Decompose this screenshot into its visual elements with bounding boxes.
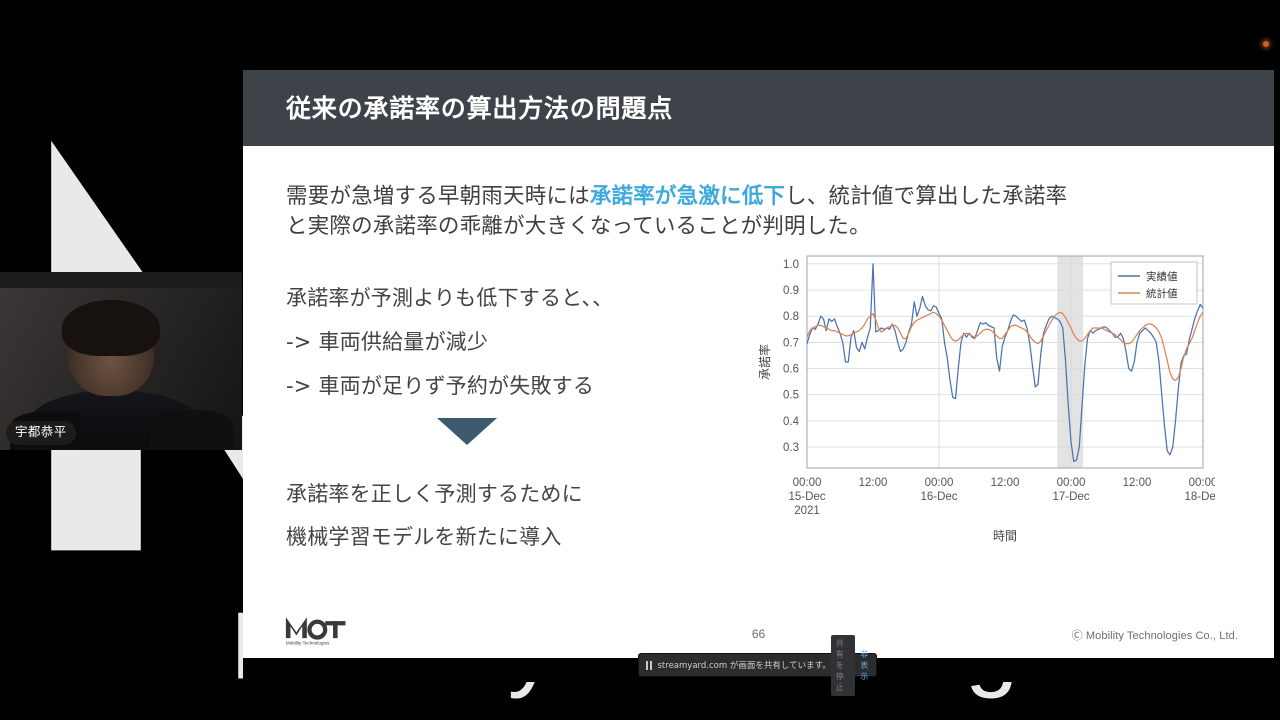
screen-share-bar[interactable]: streamyard.com が画面を共有しています。 共有を停止 非表示 [639, 654, 876, 676]
x-tick-date: 18-Dec [1184, 491, 1215, 503]
solution-line-2: 機械学習モデルを新たに導入 [286, 527, 583, 548]
chart-legend-label: 実績値 [1146, 270, 1178, 283]
lead-highlight: 承諾率が急激に低下 [590, 184, 785, 209]
copyright-notice: Ⓒ Mobility Technologies Co., Ltd. [1072, 627, 1238, 643]
consequence-line-1: 承諾率が予測よりも低下すると、、 [286, 288, 613, 309]
lead-part2: し、統計値で算出した承諾率 [785, 184, 1067, 209]
x-tick-date: 15-Dec [788, 491, 825, 503]
mot-footer-logo-label: Mobility Technologies [286, 641, 330, 646]
y-tick-label: 0.7 [783, 337, 799, 349]
screen-top-letterbox [243, 38, 1274, 70]
y-tick-label: 0.6 [783, 364, 799, 376]
x-tick-date: 16-Dec [920, 491, 957, 503]
chart-ylabel: 承諾率 [757, 344, 772, 380]
presenter-shoulder-right [150, 410, 234, 450]
pause-icon [646, 661, 652, 670]
chart-legend-label: 統計値 [1146, 287, 1178, 300]
chart-xlabel: 時間 [993, 529, 1017, 543]
lead-line2: と実際の承諾率の乖離が大きくなっていることが判明した。 [286, 214, 871, 239]
x-tick-time: 00:00 [1189, 477, 1215, 489]
screen-root: Mobility Technologies 宇都恭平 従来の承諾率の算出方法の問… [0, 0, 1280, 720]
participant-name-tag: 宇都恭平 [6, 421, 76, 445]
slide-header: 従来の承諾率の算出方法の問題点 [243, 70, 1274, 146]
chart-svg: 0.30.40.50.60.70.80.91.000:0015-Dec20211… [755, 246, 1215, 546]
x-tick-time: 00:00 [1057, 477, 1086, 489]
slide-body: 需要が急増する早朝雨天時には承諾率が急激に低下し、統計値で算出した承諾率 と実際… [243, 146, 1274, 658]
presenter-hair [62, 300, 160, 356]
webcam-top-strip [0, 272, 242, 288]
x-tick-time: 12:00 [859, 477, 888, 489]
y-tick-label: 1.0 [783, 259, 799, 271]
consequence-line-3: -> 車両が足りず予約が失敗する [286, 376, 613, 397]
share-message: streamyard.com が画面を共有しています。 [658, 659, 831, 671]
stop-sharing-button[interactable]: 共有を停止 [831, 635, 856, 696]
chart-series-統計値 [807, 312, 1203, 380]
shared-screen-area: 従来の承諾率の算出方法の問題点 需要が急増する早朝雨天時には承諾率が急激に低下し… [243, 38, 1274, 682]
y-tick-label: 0.8 [783, 311, 799, 323]
x-tick-date: 17-Dec [1052, 491, 1089, 503]
down-arrow-icon [437, 418, 497, 445]
lead-part1: 需要が急増する早朝雨天時には [286, 184, 590, 209]
consequences-block: 承諾率が予測よりも低下すると、、 -> 車両供給量が減少 -> 車両が足りず予約… [286, 288, 613, 420]
y-tick-label: 0.4 [783, 416, 800, 428]
slide-footer: Mobility Technologies 66 Ⓒ Mobility Tech… [243, 600, 1274, 658]
y-tick-label: 0.5 [783, 390, 799, 402]
hide-bar-button[interactable]: 非表示 [855, 646, 876, 685]
x-tick-time: 12:00 [991, 477, 1020, 489]
recording-dot-icon [1263, 41, 1269, 47]
solution-block: 承諾率を正しく予測するために 機械学習モデルを新たに導入 [286, 484, 583, 570]
y-tick-label: 0.9 [783, 285, 799, 297]
consequence-line-2: -> 車両供給量が減少 [286, 332, 613, 353]
x-tick-year: 2021 [794, 505, 820, 517]
slide: 従来の承諾率の算出方法の問題点 需要が急増する早朝雨天時には承諾率が急激に低下し… [243, 70, 1274, 658]
x-tick-time: 12:00 [1123, 477, 1152, 489]
slide-title: 従来の承諾率の算出方法の問題点 [286, 89, 673, 125]
x-tick-time: 00:00 [925, 477, 954, 489]
solution-line-1: 承諾率を正しく予測するために [286, 484, 583, 505]
acceptance-rate-chart: 0.30.40.50.60.70.80.91.000:0015-Dec20211… [755, 246, 1215, 546]
slide-lead-paragraph: 需要が急増する早朝雨天時には承諾率が急激に低下し、統計値で算出した承諾率 と実際… [286, 182, 1226, 241]
y-tick-label: 0.3 [783, 442, 799, 454]
x-tick-time: 00:00 [793, 477, 822, 489]
